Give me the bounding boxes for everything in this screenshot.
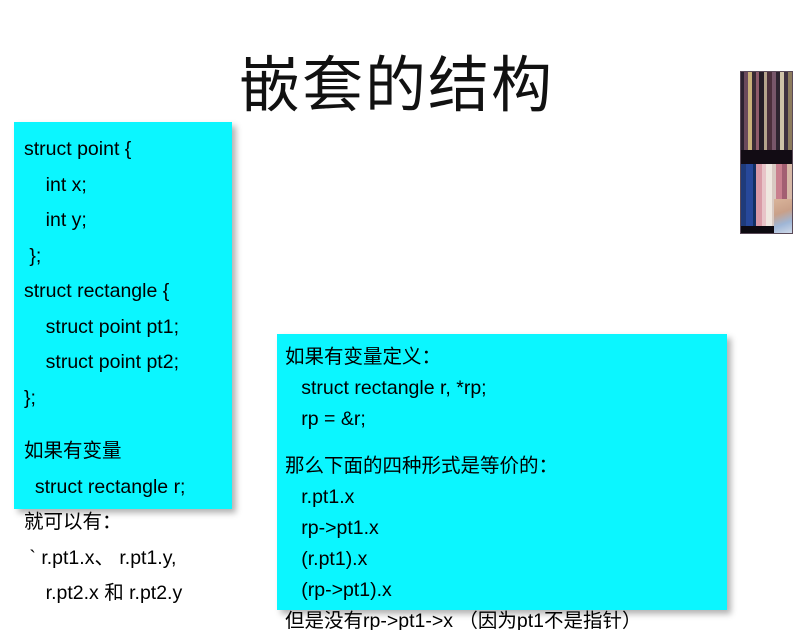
code-line: 如果有变量定义： xyxy=(285,342,719,373)
code-line: int y; xyxy=(24,203,224,239)
code-line: struct rectangle r, *rp; xyxy=(285,373,719,404)
code-line: r.pt1.x xyxy=(285,482,719,513)
code-line: 那么下面的四种形式是等价的： xyxy=(285,451,719,482)
spacer xyxy=(285,435,719,451)
code-line: rp->pt1.x xyxy=(285,513,719,544)
code-line: }; xyxy=(24,381,224,417)
code-line: int x; xyxy=(24,168,224,204)
code-line: struct rectangle { xyxy=(24,274,224,310)
code-line: rp = &r; xyxy=(285,404,719,435)
code-line: struct point { xyxy=(24,132,224,168)
code-line: }; xyxy=(24,239,224,275)
code-line: struct point pt2; xyxy=(24,345,224,381)
struct-definition-panel: struct point { int x; int y; }; struct r… xyxy=(14,122,232,509)
code-line: r.pt2.x 和 r.pt2.y xyxy=(24,576,224,612)
code-line: (r.pt1).x xyxy=(285,544,719,575)
lecture-webcam-thumbnail xyxy=(740,71,793,234)
code-line: struct rectangle r; xyxy=(24,470,224,506)
bookshelf-top-row xyxy=(741,72,792,150)
code-line: (rp->pt1).x xyxy=(285,575,719,606)
code-line: ` r.pt1.x、 r.pt1.y, xyxy=(24,541,224,577)
code-line: struct point pt1; xyxy=(24,310,224,346)
code-line: 但是没有rp->pt1->x （因为pt1不是指针） xyxy=(285,606,719,630)
presenter-figure xyxy=(774,199,792,233)
presentation-slide: 嵌套的结构 struct point { int x; int y; }; st… xyxy=(0,0,793,630)
bookshelf-divider xyxy=(741,150,792,164)
spacer xyxy=(24,416,224,434)
equivalent-forms-panel: 如果有变量定义： struct rectangle r, *rp; rp = &… xyxy=(277,334,727,610)
page-title: 嵌套的结构 xyxy=(0,49,793,121)
code-line: 就可以有： xyxy=(24,505,224,541)
code-line: 如果有变量 xyxy=(24,434,224,470)
